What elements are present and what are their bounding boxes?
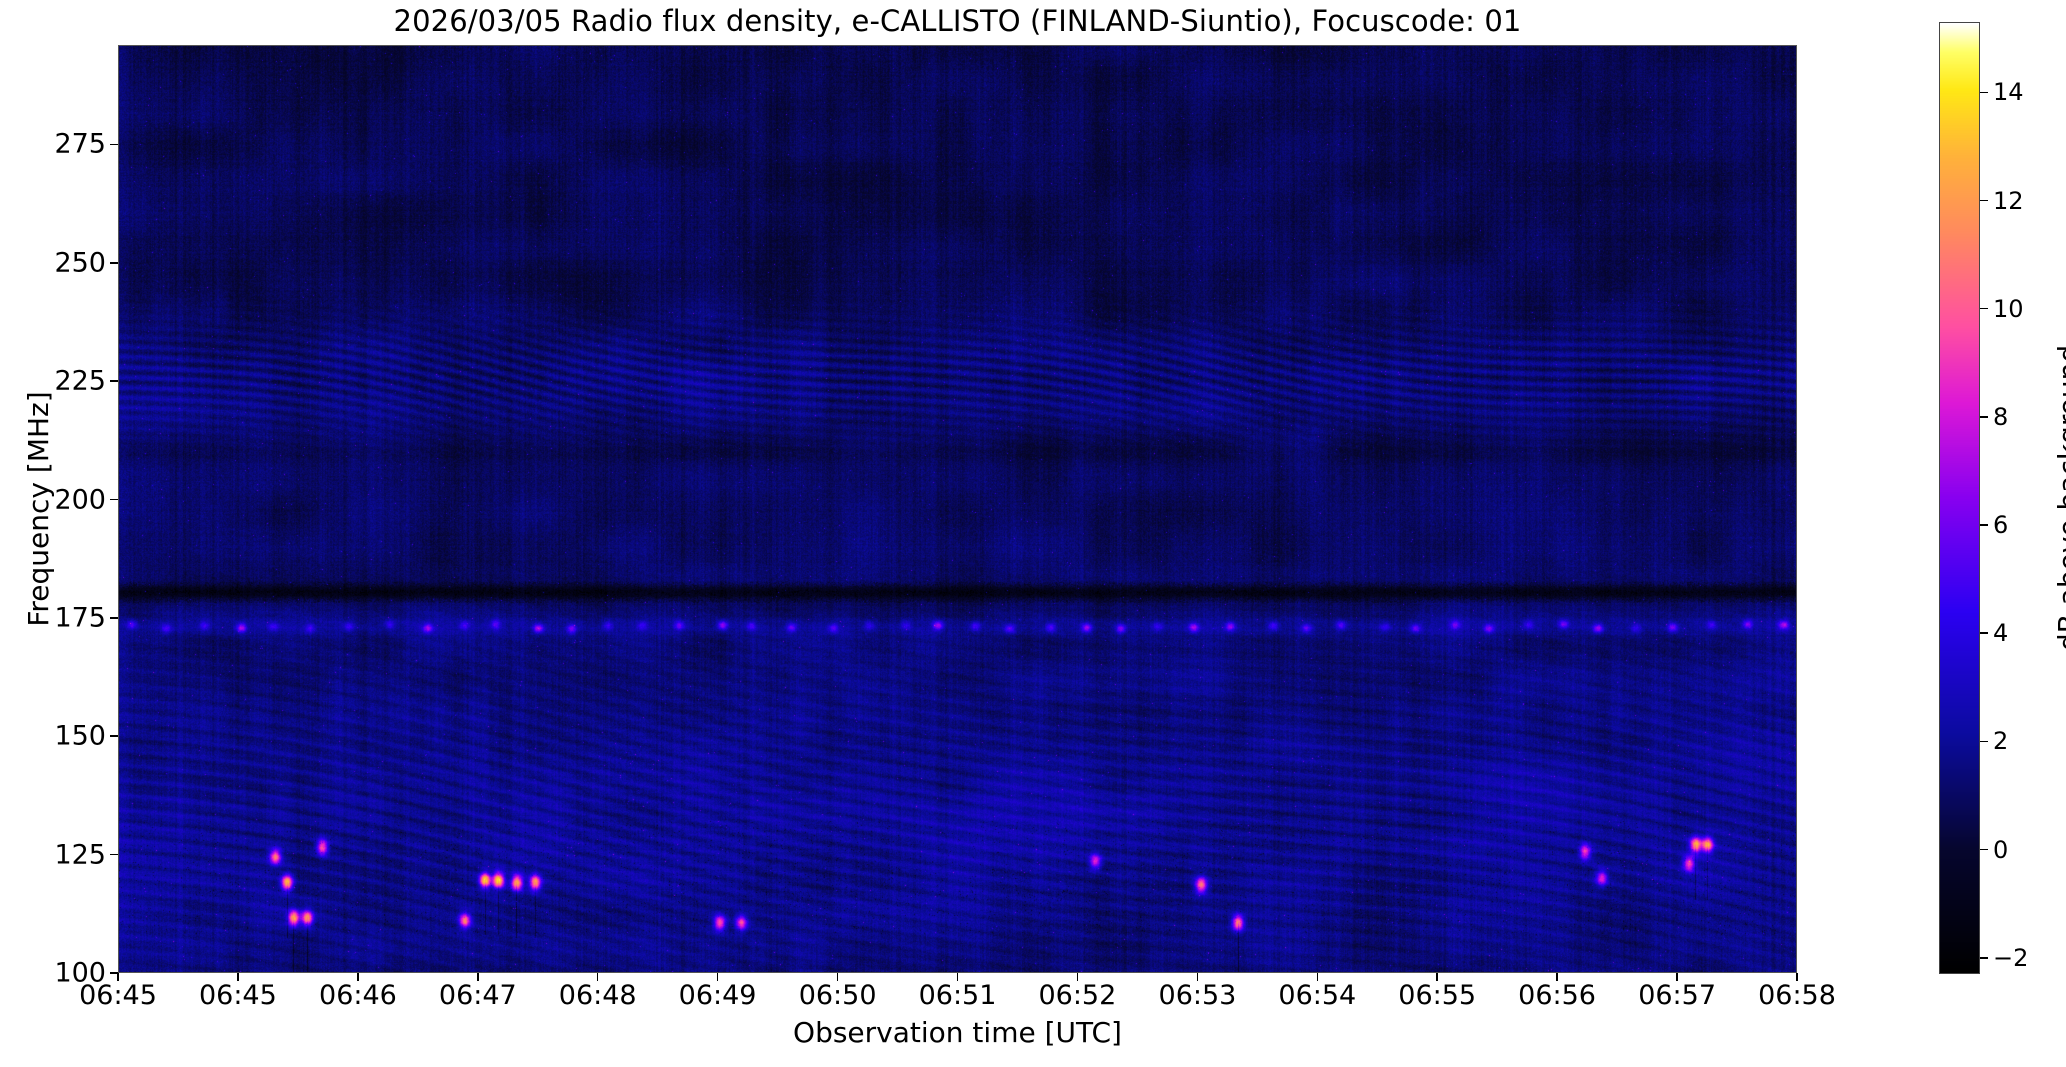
colorbar-tick-mark	[1980, 308, 1988, 310]
colorbar-tick-mark	[1980, 200, 1988, 202]
y-tick-mark	[110, 380, 118, 382]
colorbar-tick-label: 8	[1993, 403, 2008, 431]
colorbar-tick-label: −2	[1993, 944, 2028, 972]
colorbar-tick-mark	[1980, 741, 1988, 743]
y-tick-mark	[110, 499, 118, 501]
y-tick-label: 200	[0, 484, 106, 515]
colorbar-tick-label: 4	[1993, 619, 2008, 647]
y-tick-label: 175	[0, 602, 106, 633]
colorbar-tick-mark	[1980, 524, 1988, 526]
colorbar-tick-mark	[1980, 416, 1988, 418]
y-tick-mark	[110, 262, 118, 264]
y-tick-mark	[110, 617, 118, 619]
spectrogram-axes[interactable]	[118, 45, 1797, 973]
colorbar-tick-mark	[1980, 92, 1988, 94]
colorbar-tick-label: 2	[1993, 727, 2008, 755]
y-tick-label: 275	[0, 129, 106, 160]
y-tick-mark	[110, 735, 118, 737]
colorbar-tick-label: 0	[1993, 836, 2008, 864]
colorbar-tick-mark	[1980, 632, 1988, 634]
y-tick-label: 125	[0, 839, 106, 870]
colorbar-tick-label: 12	[1993, 187, 2024, 215]
y-tick-label: 150	[0, 721, 106, 752]
colorbar-tick-mark	[1980, 849, 1988, 851]
colorbar-tick-mark	[1980, 957, 1988, 959]
x-tick-label: 06:58	[1717, 980, 1877, 1011]
page-title: 2026/03/05 Radio flux density, e-CALLIST…	[118, 4, 1797, 38]
y-tick-label: 225	[0, 366, 106, 397]
colorbar-gradient	[1939, 22, 1980, 974]
spectrogram-figure: 2026/03/05 Radio flux density, e-CALLIST…	[0, 0, 2066, 1067]
spectrogram-heatmap[interactable]	[119, 46, 1796, 972]
y-tick-mark	[110, 144, 118, 146]
x-axis-label: Observation time [UTC]	[118, 1016, 1797, 1049]
y-tick-mark	[110, 854, 118, 856]
colorbar: −202468101214	[1939, 22, 1980, 974]
colorbar-label: dB above background	[2052, 22, 2066, 974]
colorbar-tick-label: 10	[1993, 295, 2024, 323]
colorbar-tick-label: 14	[1993, 78, 2024, 106]
y-tick-label: 250	[0, 247, 106, 278]
colorbar-tick-label: 6	[1993, 511, 2008, 539]
